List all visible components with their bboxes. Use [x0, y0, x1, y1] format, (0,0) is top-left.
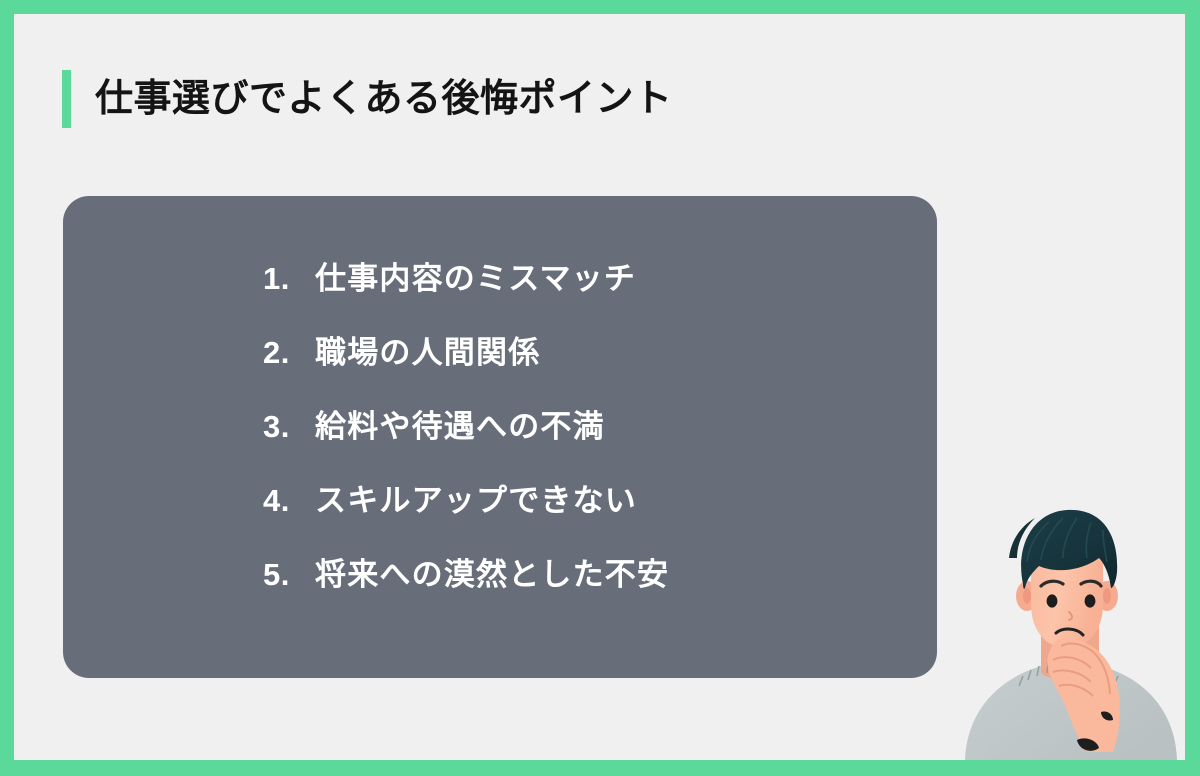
regret-points-card: 1. 仕事内容のミスマッチ 2. 職場の人間関係 3. 給料や待遇への不満 4.… — [63, 196, 937, 678]
list-item-label: 仕事内容のミスマッチ — [315, 253, 636, 298]
thinking-person-illustration — [953, 500, 1185, 760]
list-item: 5. 将来への漠然とした不安 — [263, 549, 669, 623]
list-item: 3. 給料や待遇への不満 — [263, 401, 669, 475]
list-item-label: 将来への漠然とした不安 — [315, 549, 669, 594]
page-title: 仕事選びでよくある後悔ポイント — [62, 69, 673, 129]
list-item-number: 4. — [263, 483, 315, 519]
list-item-label: 職場の人間関係 — [315, 327, 540, 372]
list-item-label: スキルアップできない — [315, 475, 637, 520]
list-item-label: 給料や待遇への不満 — [315, 401, 605, 446]
list-item: 2. 職場の人間関係 — [263, 327, 669, 401]
list-item: 1. 仕事内容のミスマッチ — [263, 253, 669, 327]
slide-frame: 仕事選びでよくある後悔ポイント 1. 仕事内容のミスマッチ 2. 職場の人間関係… — [0, 0, 1200, 776]
list-item-number: 1. — [263, 261, 315, 297]
list-item-number: 2. — [263, 335, 315, 371]
list-item-number: 3. — [263, 409, 315, 445]
list-item-number: 5. — [263, 557, 315, 593]
regret-points-list: 1. 仕事内容のミスマッチ 2. 職場の人間関係 3. 給料や待遇への不満 4.… — [263, 253, 669, 623]
accent-bar-icon — [62, 70, 71, 128]
list-item: 4. スキルアップできない — [263, 475, 669, 549]
page-title-text: 仕事選びでよくある後悔ポイント — [95, 80, 673, 118]
slide-canvas: 仕事選びでよくある後悔ポイント 1. 仕事内容のミスマッチ 2. 職場の人間関係… — [14, 14, 1185, 760]
